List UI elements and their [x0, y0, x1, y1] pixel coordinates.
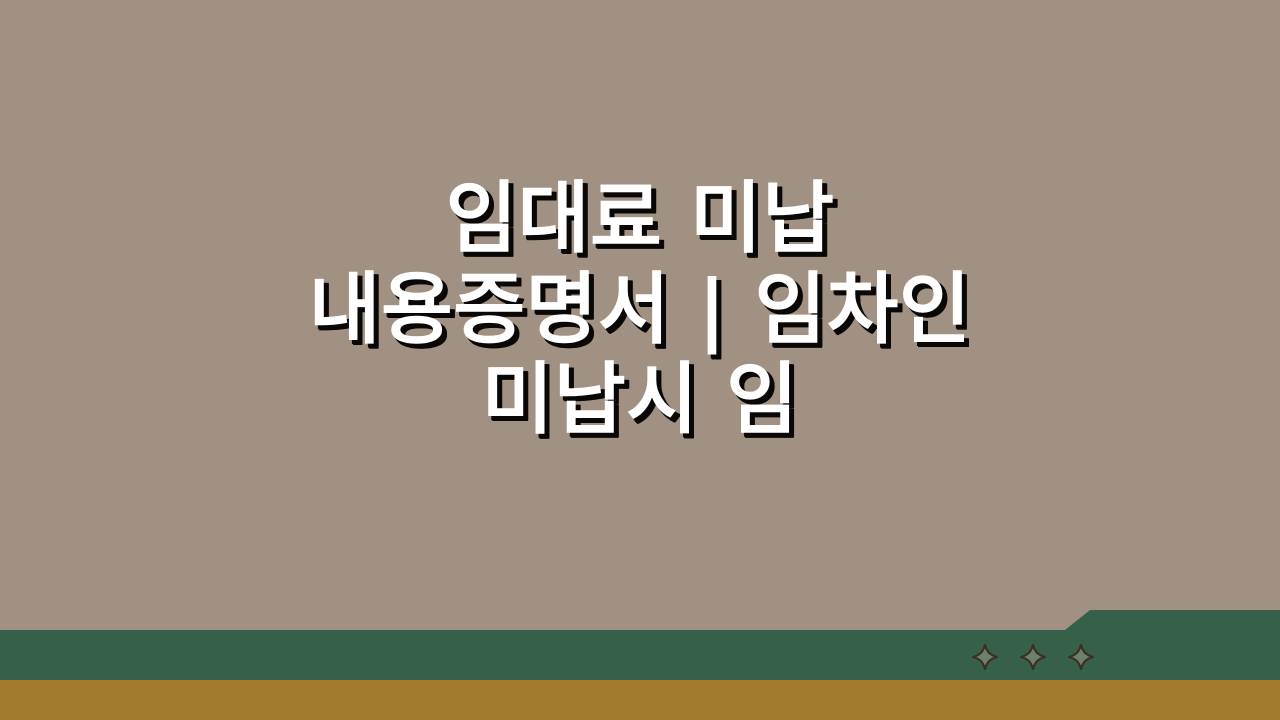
bottom-decoration-bar [0, 610, 1280, 720]
page-title: 임대료 미납 내용증명서 | 임차인 미납시 임 [290, 174, 990, 445]
thumbnail-canvas: 임대료 미납 내용증명서 | 임차인 미납시 임 [0, 0, 1280, 720]
gold-band [0, 680, 1280, 720]
diamond-sparkle-icon [968, 640, 1002, 674]
diamond-sparkle-icon [1064, 640, 1098, 674]
sparkle-group [968, 636, 1098, 678]
title-block: 임대료 미납 내용증명서 | 임차인 미납시 임 [0, 0, 1280, 620]
diamond-sparkle-icon [1016, 640, 1050, 674]
